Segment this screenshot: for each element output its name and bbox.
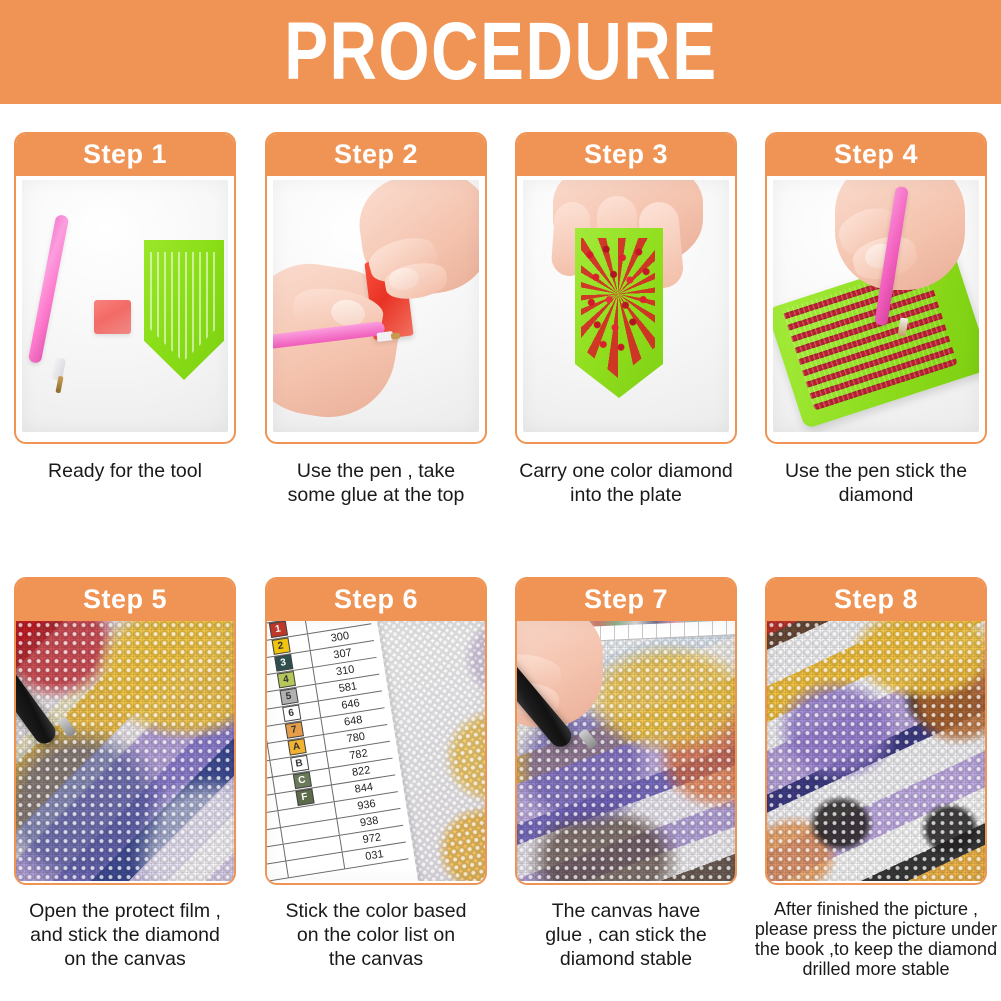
step-cell-4: Step 4 Use the pen stick the diamond — [751, 132, 1001, 552]
step-5-caption: Open the protect film , and stick the di… — [6, 899, 244, 971]
page-header-banner: PROCEDURE — [0, 0, 1001, 104]
step-3-caption: Carry one color diamond into the plate — [507, 459, 745, 507]
step-3-photo — [523, 180, 729, 432]
steps-row-1: Step 1 Ready for the tool Step 2 — [0, 132, 1001, 552]
step-6-caption: Stick the color based on the color list … — [257, 899, 495, 971]
step-card-4[interactable]: Step 4 — [765, 132, 987, 444]
step-card-1[interactable]: Step 1 — [14, 132, 236, 444]
step-2-caption: Use the pen , take some glue at the top — [257, 459, 495, 507]
step-2-illustration — [273, 180, 479, 432]
step-cell-3: Step 3 Carry one color diamond into the … — [501, 132, 751, 552]
step-5-illustration — [16, 621, 234, 881]
step-1-caption: Ready for the tool — [6, 459, 244, 483]
step-5-photo — [16, 621, 234, 881]
step-8-illustration — [767, 621, 985, 881]
step-7-photo — [517, 621, 735, 881]
step-card-3[interactable]: Step 3 — [515, 132, 737, 444]
step-cell-6: Step 6 Serial Symbol DMC — [251, 577, 501, 1001]
step-6-illustration: Serial Symbol DMC 1122300333074431055581… — [267, 621, 485, 881]
step-7-illustration — [517, 621, 735, 881]
step-4-caption: Use the pen stick the diamond — [757, 459, 995, 507]
step-3-header: Step 3 — [515, 132, 737, 176]
step-3-illustration — [523, 180, 729, 432]
step-4-header: Step 4 — [765, 132, 987, 176]
step-card-7[interactable]: Step 7 — [515, 577, 737, 885]
steps-row-2: Step 5 Open the protect film , and stick… — [0, 577, 1001, 1001]
step-1-illustration — [22, 180, 228, 432]
step-4-photo — [773, 180, 979, 432]
step-card-6[interactable]: Step 6 Serial Symbol DMC — [265, 577, 487, 885]
step-7-caption: The canvas have glue , can stick the dia… — [507, 899, 745, 971]
step-1-header: Step 1 — [14, 132, 236, 176]
step-cell-8: Step 8 After finished the picture , plea… — [751, 577, 1001, 1001]
step-cell-1: Step 1 Ready for the tool — [0, 132, 250, 552]
step-6-header: Step 6 — [265, 577, 487, 621]
step-7-header: Step 7 — [515, 577, 737, 621]
step-2-header: Step 2 — [265, 132, 487, 176]
step-8-header: Step 8 — [765, 577, 987, 621]
step-8-caption: After finished the picture , please pres… — [753, 899, 999, 979]
step-cell-5: Step 5 Open the protect film , and stick… — [0, 577, 250, 1001]
step-cell-7: Step 7 The canvas have glue — [501, 577, 751, 1001]
step-card-2[interactable]: Step 2 — [265, 132, 487, 444]
step-card-5[interactable]: Step 5 — [14, 577, 236, 885]
step-card-8[interactable]: Step 8 — [765, 577, 987, 885]
step-5-header: Step 5 — [14, 577, 236, 621]
step-8-photo — [767, 621, 985, 881]
step-2-photo — [273, 180, 479, 432]
step-4-illustration — [773, 180, 979, 432]
page-title: PROCEDURE — [284, 11, 718, 93]
step-1-photo — [22, 180, 228, 432]
step-cell-2: Step 2 Use the p — [251, 132, 501, 552]
step-6-photo: Serial Symbol DMC 1122300333074431055581… — [267, 621, 485, 881]
